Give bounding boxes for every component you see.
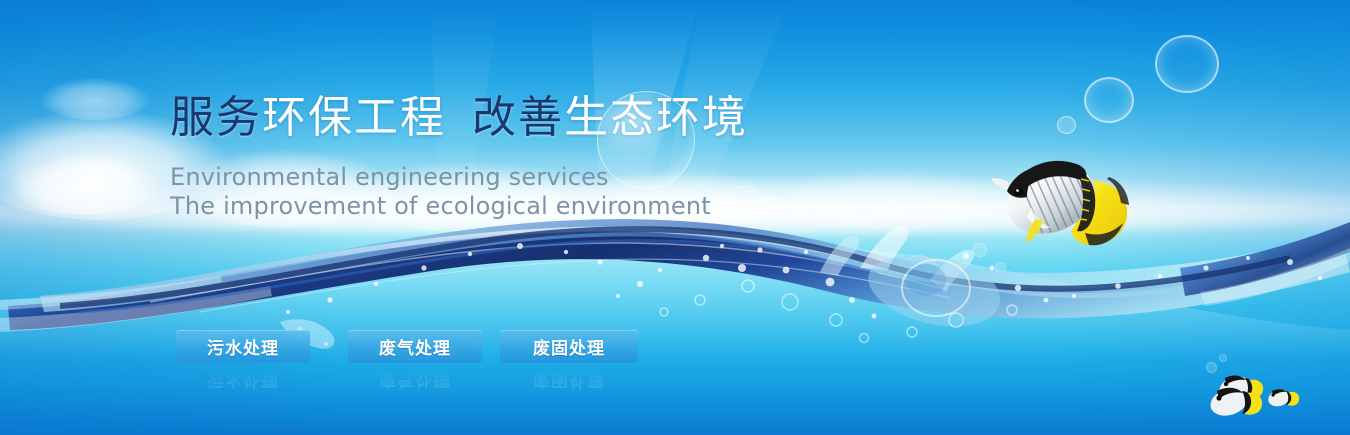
headline-line: 服务环保工程改善生态环境 (170, 96, 748, 140)
headline-part1-dark: 服务 (170, 92, 262, 143)
btn-solid-waste-treatment[interactable]: 废固处理 (500, 330, 638, 363)
headline-part2-light: 生态环境 (564, 92, 748, 143)
btn-waste-gas-treatment[interactable]: 废气处理 (348, 330, 482, 363)
subtitle-line-2: The improvement of ecological environmen… (170, 191, 711, 222)
btn-solid-waste-treatment-label: 废固处理 (533, 334, 605, 359)
headline-part1-light: 环保工程 (262, 92, 446, 143)
hero-banner: 服务环保工程改善生态环境 Environmental engineering s… (0, 0, 1350, 435)
subtitle-line-1: Environmental engineering services (170, 162, 609, 193)
headline-part2-dark: 改善 (472, 92, 564, 143)
btn-wastewater-treatment[interactable]: 污水处理 (176, 330, 310, 363)
btn-waste-gas-treatment-label: 废气处理 (379, 334, 451, 359)
btn-wastewater-treatment-label: 污水处理 (207, 334, 279, 359)
